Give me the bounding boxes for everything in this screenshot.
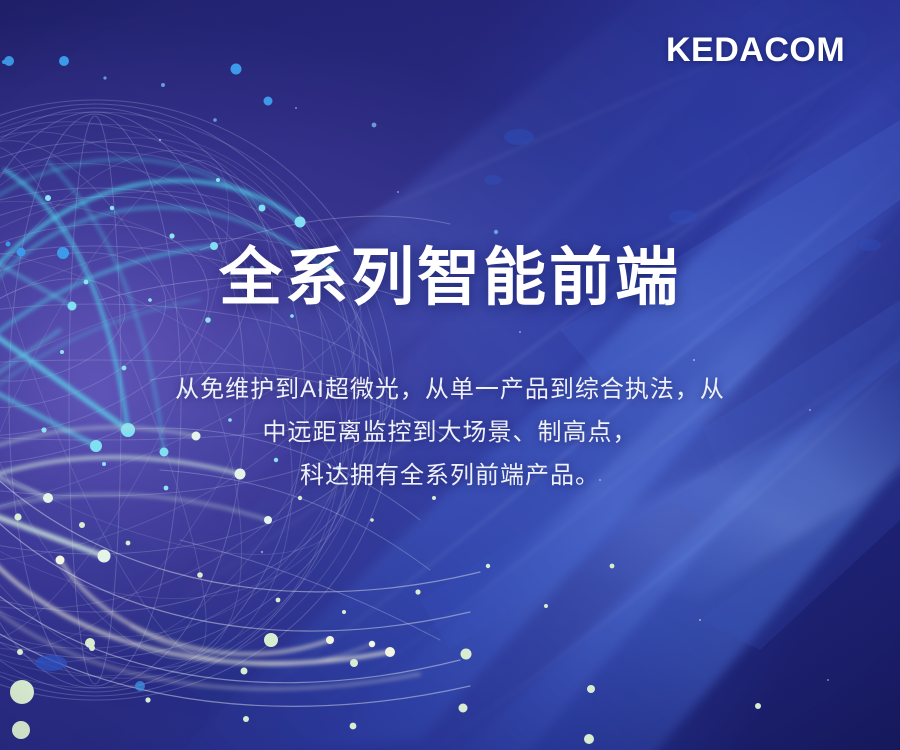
page-title: 全系列智能前端 xyxy=(0,243,900,315)
subcopy-line-3: 科达拥有全系列前端产品。 xyxy=(0,454,900,497)
kedacom-logo: KEDACOM xyxy=(666,33,845,67)
hero-subcopy: 从免维护到AI超微光，从单一产品到综合执法，从 中远距离监控到大场景、制高点， … xyxy=(0,368,900,497)
subcopy-line-2: 中远距离监控到大场景、制高点， xyxy=(0,411,900,454)
subcopy-line-1: 从免维护到AI超微光，从单一产品到综合执法，从 xyxy=(0,368,900,411)
kedacom-promo-banner: KEDACOM 全系列智能前端 从免维护到AI超微光，从单一产品到综合执法，从 … xyxy=(0,0,900,750)
